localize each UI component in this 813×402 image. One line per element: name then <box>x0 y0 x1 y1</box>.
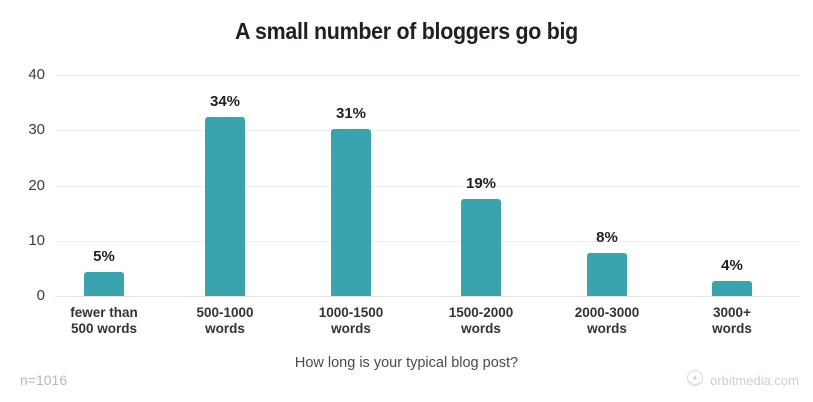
bar-value-label: 31% <box>291 105 411 122</box>
gridline <box>55 296 800 297</box>
x-axis-category-label: 500-1000words <box>155 305 295 337</box>
bar <box>84 272 124 296</box>
bar-chart: A small number of bloggers go big 403020… <box>0 0 813 402</box>
bar-value-label: 8% <box>547 229 667 246</box>
category-label-line: 1500-2000 <box>411 305 551 321</box>
category-label-line: words <box>537 321 677 337</box>
x-axis-category-label: 2000-3000words <box>537 305 677 337</box>
category-label-line: words <box>662 321 802 337</box>
brand-watermark: orbitmedia.com <box>686 369 799 392</box>
y-axis-tick-label: 30 <box>0 121 45 138</box>
category-label-line: words <box>155 321 295 337</box>
bar <box>587 253 627 296</box>
bar <box>205 117 245 296</box>
category-label-line: 2000-3000 <box>537 305 677 321</box>
x-axis-category-label: 3000+words <box>662 305 802 337</box>
orbit-circle-icon <box>686 369 704 392</box>
category-label-line: 500-1000 <box>155 305 295 321</box>
x-axis-category-label: 1500-2000words <box>411 305 551 337</box>
x-axis-category-label: 1000-1500words <box>281 305 421 337</box>
category-label-line: 3000+ <box>662 305 802 321</box>
category-label-line: words <box>281 321 421 337</box>
chart-title: A small number of bloggers go big <box>28 18 784 45</box>
x-axis-category-label: fewer than500 words <box>34 305 174 337</box>
category-label-line: words <box>411 321 551 337</box>
bar <box>331 129 371 296</box>
plot-area: 403020100 5%34%31%19%8%4% <box>55 75 800 296</box>
y-axis-tick-label: 0 <box>0 287 45 304</box>
bar-value-label: 34% <box>165 93 285 110</box>
category-label-line: 500 words <box>34 321 174 337</box>
bar-value-label: 19% <box>421 175 541 192</box>
category-label-line: fewer than <box>34 305 174 321</box>
y-axis-tick-label: 10 <box>0 232 45 249</box>
category-label-line: 1000-1500 <box>281 305 421 321</box>
sample-size-note: n=1016 <box>20 372 67 388</box>
bar <box>712 281 752 296</box>
gridline <box>55 75 800 76</box>
y-axis-tick-label: 40 <box>0 66 45 83</box>
bar <box>461 199 501 296</box>
bar-value-label: 4% <box>672 257 792 274</box>
gridline <box>55 241 800 242</box>
gridline <box>55 130 800 131</box>
y-axis-tick-label: 20 <box>0 177 45 194</box>
brand-name-label: orbitmedia.com <box>710 373 799 388</box>
bar-value-label: 5% <box>44 248 164 265</box>
